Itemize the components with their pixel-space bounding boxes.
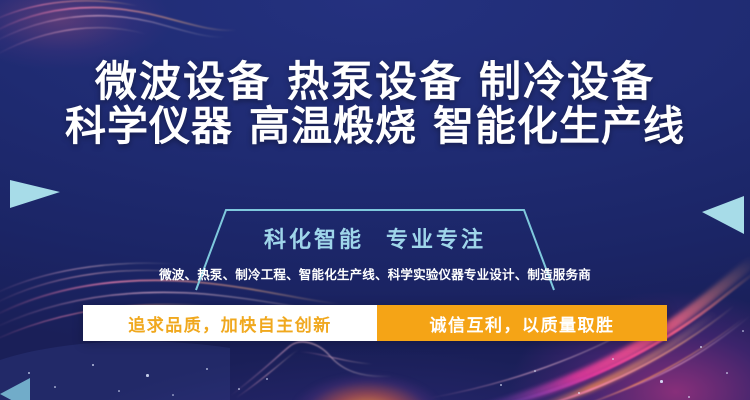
triangle-left-icon bbox=[10, 180, 60, 208]
headline-item-production-line: 智能化生产线 bbox=[433, 102, 685, 150]
slogan-text: 科化智能专业专注 bbox=[152, 222, 598, 254]
slogan-part-2: 专业专注 bbox=[386, 228, 486, 253]
page-title: 微波设备热泵设备制冷设备 科学仪器高温煅烧智能化生产线 bbox=[0, 60, 750, 148]
headline-line-2: 科学仪器高温煅烧智能化生产线 bbox=[0, 105, 750, 148]
headline-line-1: 微波设备热泵设备制冷设备 bbox=[0, 60, 750, 105]
banner-left-box: 追求品质，加快自主创新 bbox=[83, 305, 377, 341]
subtitle-text: 微波、热泵、制冷工程、智能化生产线、科学实验仪器专业设计、制造服务商 bbox=[152, 264, 598, 283]
bottom-banner: 追求品质，加快自主创新 诚信互利，以质量取胜 bbox=[83, 305, 667, 341]
banner-advertisement: 微波设备热泵设备制冷设备 科学仪器高温煅烧智能化生产线 科化智能专业专注 微波、… bbox=[0, 0, 750, 400]
triangle-bottom-left-icon bbox=[0, 378, 30, 400]
headline-item-instruments: 科学仪器 bbox=[65, 102, 233, 150]
headline-item-heatpump: 热泵设备 bbox=[287, 57, 463, 106]
headline-item-microwave: 微波设备 bbox=[95, 57, 271, 106]
slogan-part-1: 科化智能 bbox=[264, 228, 364, 253]
headline-item-refrigeration: 制冷设备 bbox=[479, 57, 655, 106]
triangle-right-icon bbox=[702, 196, 744, 234]
headline-item-calcination: 高温煅烧 bbox=[249, 102, 417, 150]
banner-right-box: 诚信互利，以质量取胜 bbox=[377, 305, 667, 341]
